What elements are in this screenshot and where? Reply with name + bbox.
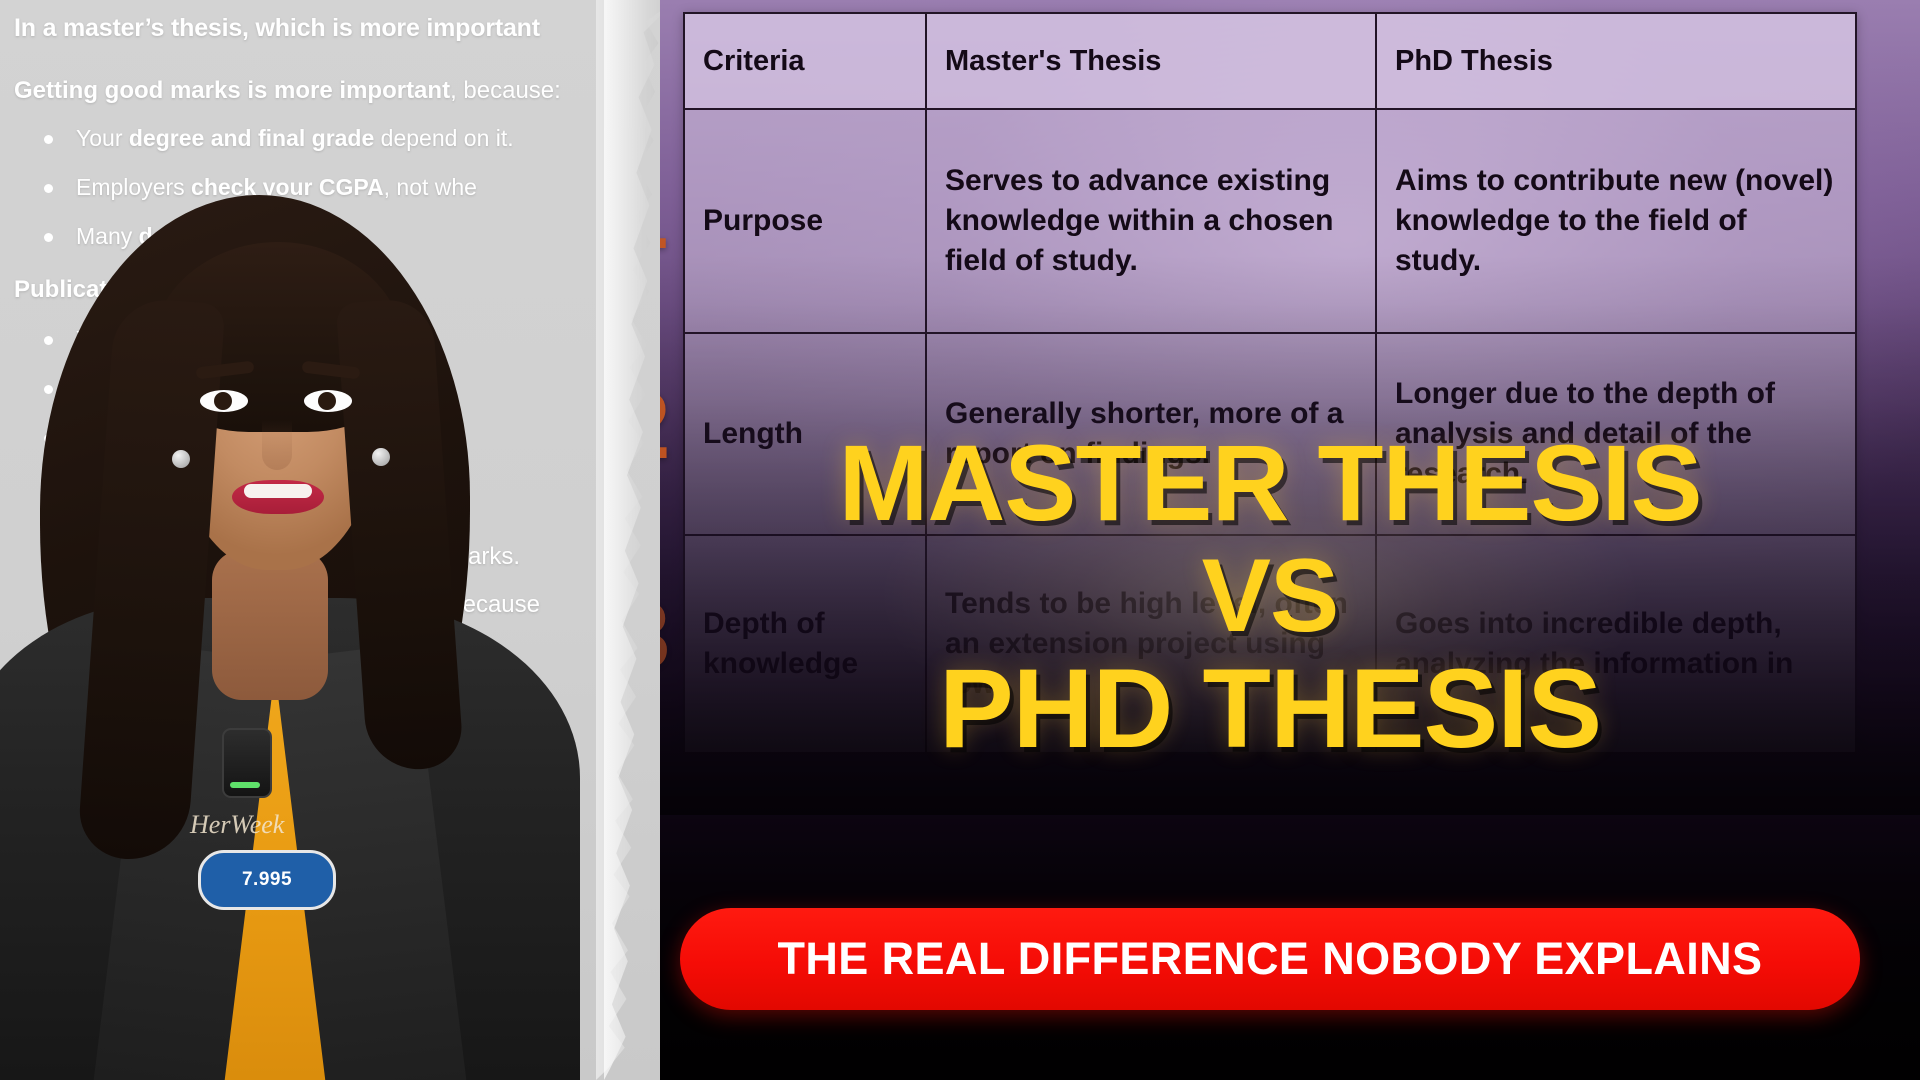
row-phd: Aims to contribute new (novel) knowledge…	[1376, 109, 1856, 333]
bullet-text-b: depend on it.	[374, 125, 513, 151]
row-criteria: Depth of knowledge	[684, 535, 926, 753]
bullet-text-bold: degree and final grade	[129, 125, 374, 151]
row-criteria: Purpose	[684, 109, 926, 333]
presenter-nose	[262, 420, 292, 470]
row-masters: Tends to be high level, often an extensi…	[926, 535, 1376, 753]
microphone-led-icon	[230, 782, 260, 788]
cta-banner[interactable]: THE REAL DIFFERENCE NOBODY EXPLAINS	[680, 908, 1860, 1010]
presenter-neck	[212, 550, 328, 700]
presenter-teeth	[244, 484, 312, 498]
slide-lead: Getting good marks is more important, be…	[14, 77, 660, 105]
table-row: Purpose Serves to advance existing knowl…	[684, 109, 1856, 333]
thesis-comparison-table: Criteria Master's Thesis PhD Thesis Purp…	[683, 12, 1857, 754]
row-criteria: Length	[684, 333, 926, 535]
shirt-script-text: HerWeek	[190, 810, 360, 850]
slide-lead-bold: Getting good marks is more important	[14, 77, 450, 104]
row-phd: Goes into incredible depth, analyzing th…	[1376, 535, 1856, 753]
table-header-criteria: Criteria	[684, 13, 926, 109]
table-header-masters: Master's Thesis	[926, 13, 1376, 109]
presenter-eye-right	[304, 390, 352, 412]
presenter-earring-left	[172, 450, 190, 468]
presenter-eye-left	[200, 390, 248, 412]
table-row: Depth of knowledge Tends to be high leve…	[684, 535, 1856, 753]
list-item: Your degree and final grade depend on it…	[42, 125, 660, 152]
presenter-photo: HerWeek 7.995	[0, 150, 560, 1080]
row-masters: Generally shorter, more of a report on f…	[926, 333, 1376, 535]
row-masters: Serves to advance existing knowledge wit…	[926, 109, 1376, 333]
table-row: Length Generally shorter, more of a repo…	[684, 333, 1856, 535]
slide-lead-rest: , because:	[450, 77, 561, 104]
bullet-text-a: Your	[76, 125, 129, 151]
slide-question: In a master’s thesis, which is more impo…	[14, 14, 660, 43]
shirt-badge-text: 7.995	[242, 869, 292, 891]
row-phd: Longer due to the depth of analysis and …	[1376, 333, 1856, 535]
table-header-row: Criteria Master's Thesis PhD Thesis	[684, 13, 1856, 109]
thumbnail-canvas: Criteria Master's Thesis PhD Thesis Purp…	[0, 0, 1920, 1080]
cta-banner-text: THE REAL DIFFERENCE NOBODY EXPLAINS	[778, 933, 1763, 985]
shirt-badge: 7.995	[198, 850, 336, 910]
table-header-phd: PhD Thesis	[1376, 13, 1856, 109]
presenter-earring-right	[372, 448, 390, 466]
